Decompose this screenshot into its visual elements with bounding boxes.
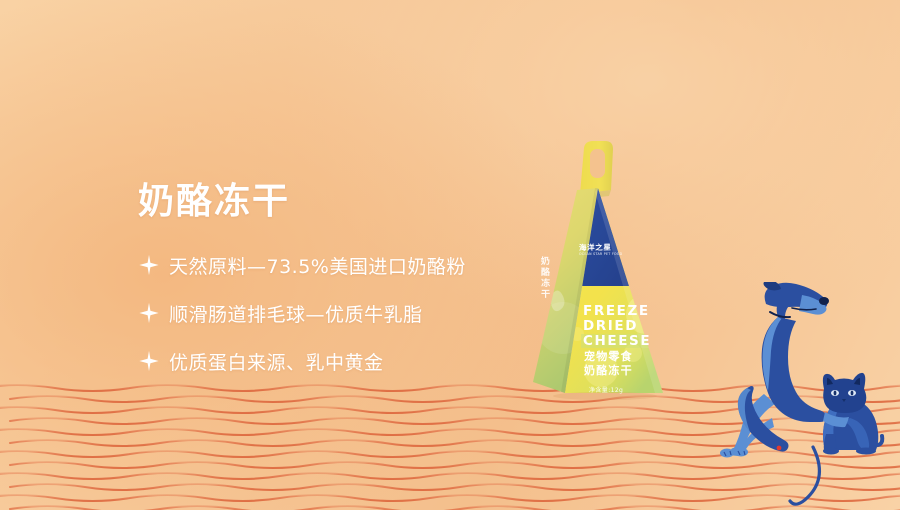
text-block: 奶酪冻干 天然原料—73.5%美国进口奶酪粉 顺滑肠道排毛球—优质牛乳脂 优质蛋… bbox=[138, 182, 518, 396]
package-artwork bbox=[505, 138, 690, 423]
sparkle-icon bbox=[138, 254, 160, 276]
feature-label: 优质蛋白来源、乳中黄金 bbox=[169, 348, 384, 375]
feature-item: 天然原料—73.5%美国进口奶酪粉 bbox=[138, 252, 518, 279]
feature-label: 顺滑肠道排毛球—优质牛乳脂 bbox=[169, 300, 423, 327]
sparkle-icon bbox=[138, 302, 160, 324]
feature-item: 顺滑肠道排毛球—优质牛乳脂 bbox=[138, 300, 518, 327]
pet-illustration bbox=[700, 282, 900, 510]
feature-label: 天然原料—73.5%美国进口奶酪粉 bbox=[169, 252, 466, 279]
page-title: 奶酪冻干 bbox=[138, 182, 518, 222]
sitting-cat bbox=[823, 373, 882, 455]
feature-item: 优质蛋白来源、乳中黄金 bbox=[138, 348, 518, 375]
greyhound-dog bbox=[720, 282, 829, 504]
promo-banner: 奶酪冻干 天然原料—73.5%美国进口奶酪粉 顺滑肠道排毛球—优质牛乳脂 优质蛋… bbox=[0, 0, 900, 510]
product-package: 海洋之星 OCEAN STAR PET FOOD FREEZEDRIEDCHEE… bbox=[505, 138, 690, 423]
sparkle-icon bbox=[138, 350, 160, 372]
